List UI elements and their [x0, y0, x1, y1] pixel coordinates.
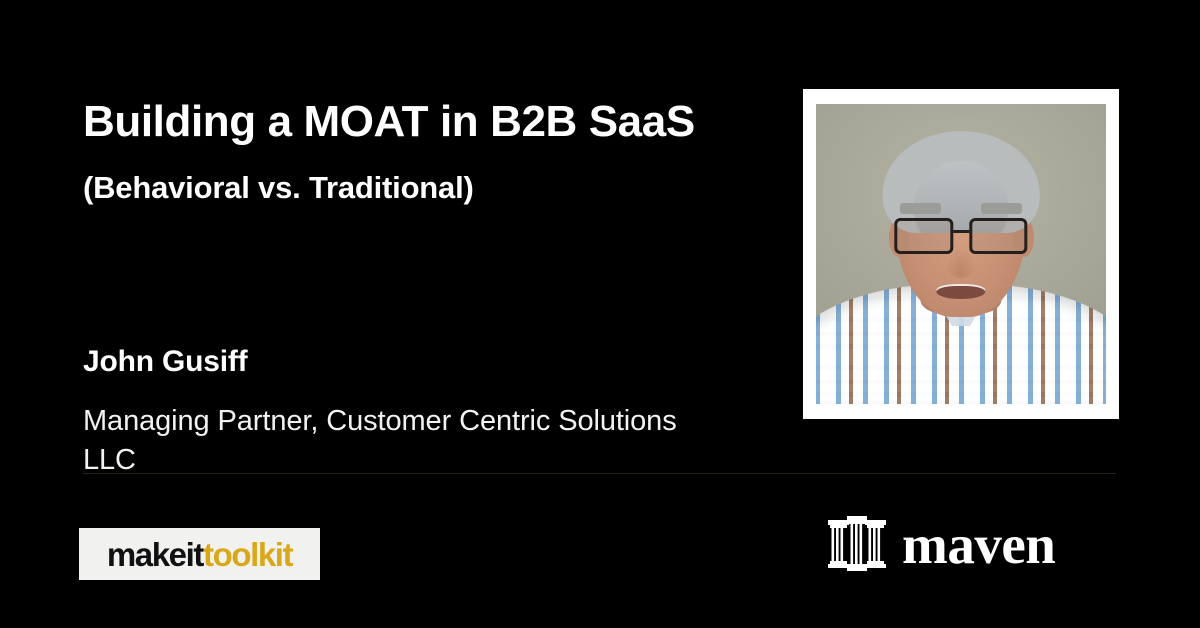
maven-logo: maven	[828, 512, 1055, 576]
three-columns-icon	[828, 516, 886, 572]
speaker-name: John Gusiff	[83, 344, 683, 380]
photo-lens-right	[969, 218, 1028, 254]
divider	[82, 473, 1116, 474]
page-title: Building a MOAT in B2B SaaS	[83, 96, 723, 147]
speaker-role: Managing Partner, Customer Centric Solut…	[83, 402, 683, 479]
speaker-photo-frame	[803, 89, 1119, 419]
speaker-block: John Gusiff Managing Partner, Customer C…	[83, 344, 683, 479]
makeit-toolkit-logo: makeittoolkit	[79, 528, 320, 580]
makeit-toolkit-logo-make: makeit	[107, 538, 203, 571]
title-block: Building a MOAT in B2B SaaS (Behavioral …	[83, 96, 723, 206]
photo-eyebrow-right	[981, 203, 1022, 214]
speaker-photo	[816, 104, 1106, 404]
maven-wordmark: maven	[902, 517, 1055, 572]
photo-eyebrow-left	[900, 203, 941, 214]
photo-nose	[945, 248, 977, 278]
presentation-slide: Building a MOAT in B2B SaaS (Behavioral …	[0, 0, 1200, 628]
photo-mouth	[936, 284, 985, 299]
makeit-toolkit-logo-toolkit: toolkit	[203, 538, 292, 571]
photo-lens-left	[894, 218, 953, 254]
photo-glasses-bridge	[953, 230, 969, 233]
page-subtitle: (Behavioral vs. Traditional)	[83, 169, 723, 206]
